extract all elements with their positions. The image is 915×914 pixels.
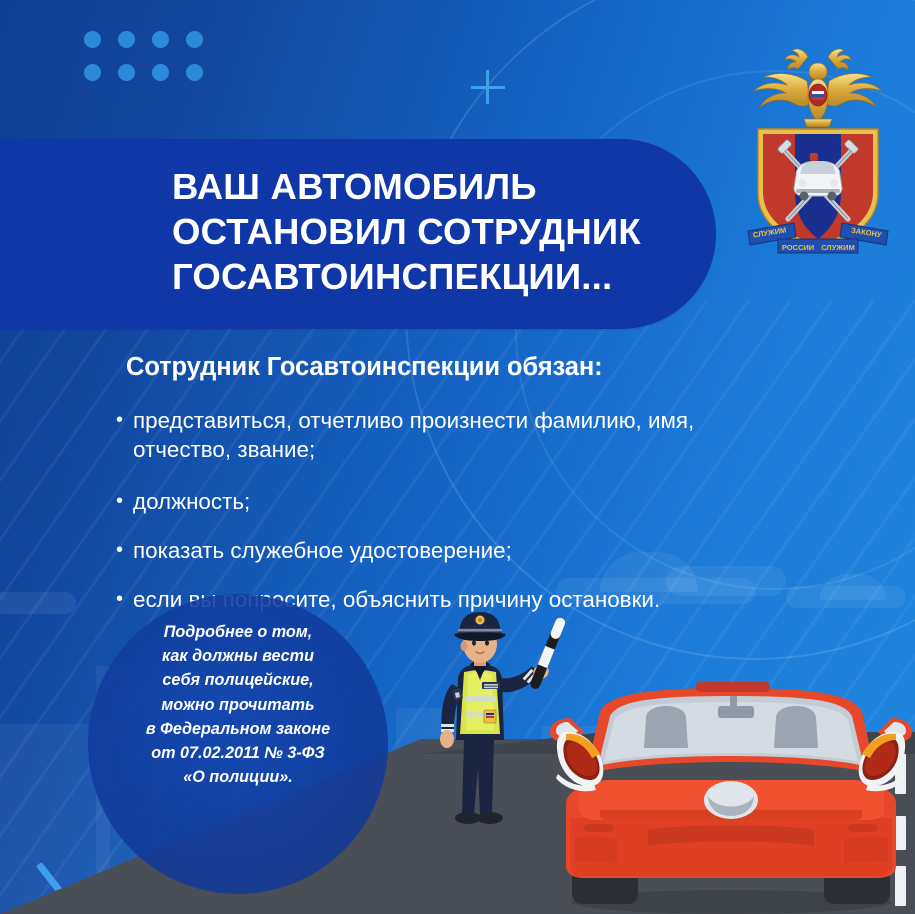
footnote-text: Подробнее о том, как должны вести себя п…	[88, 620, 388, 789]
decor-dot	[84, 64, 101, 81]
list-item: должность;	[116, 487, 796, 516]
decor-dot	[186, 64, 203, 81]
section-subtitle: Сотрудник Госавтоинспекции обязан:	[126, 353, 603, 382]
list-item: представиться, отчетливо произнести фами…	[116, 406, 796, 464]
decor-dot	[152, 64, 169, 81]
traffic-police-officer-illustration	[408, 608, 568, 840]
ribbon-text-center-left: РОССИИ	[782, 243, 814, 252]
page-title: ВАШ АВТОМОБИЛЬ ОСТАНОВИЛ СОТРУДНИК ГОСАВ…	[172, 164, 732, 299]
decor-dot	[152, 31, 169, 48]
mvd-gibdd-emblem: СЛУЖИМ ЗАКОНУ РОССИИ СЛУЖИМ	[738, 33, 898, 263]
ribbon-text-center-right: СЛУЖИМ	[821, 243, 855, 252]
decor-dot	[118, 64, 135, 81]
red-car-illustration	[548, 670, 915, 914]
decor-dot	[186, 31, 203, 48]
decor-dot	[118, 31, 135, 48]
list-item: показать служебное удостоверение;	[116, 536, 796, 565]
dot-grid-decoration	[84, 31, 220, 97]
infographic-poster: ВАШ АВТОМОБИЛЬ ОСТАНОВИЛ СОТРУДНИК ГОСАВ…	[0, 0, 915, 914]
decor-dot	[84, 31, 101, 48]
plus-icon	[471, 70, 505, 104]
